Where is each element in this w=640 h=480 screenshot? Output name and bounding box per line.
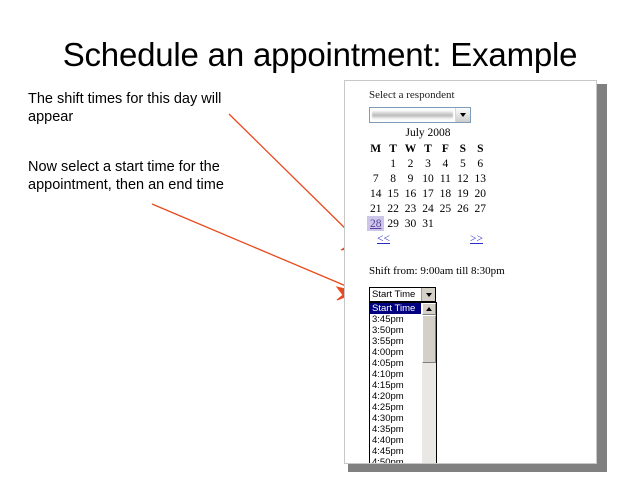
calendar-week-row: 78910111213 xyxy=(367,171,489,186)
calendar-day-label: 9 xyxy=(408,173,414,185)
chevron-down-glyph xyxy=(426,293,432,297)
calendar-day-label: 11 xyxy=(440,173,451,185)
time-option[interactable]: 3:50pm xyxy=(370,325,421,336)
start-time-listbox[interactable]: Start Time3:45pm3:50pm3:55pm4:00pm4:05pm… xyxy=(369,302,437,464)
scroll-up-button[interactable] xyxy=(422,303,436,315)
time-option[interactable]: 3:55pm xyxy=(370,336,421,347)
time-option[interactable]: 4:10pm xyxy=(370,369,421,380)
annotation-arrow-2 xyxy=(152,204,358,300)
calendar-day-label: 4 xyxy=(443,158,449,170)
calendar-day-label: 13 xyxy=(475,173,487,185)
calendar-day-label: 8 xyxy=(390,173,396,185)
calendar-day-label: 27 xyxy=(475,203,487,215)
time-option[interactable]: 3:45pm xyxy=(370,314,421,325)
calendar-day-label: 5 xyxy=(460,158,466,170)
start-time-option-list[interactable]: Start Time3:45pm3:50pm3:55pm4:00pm4:05pm… xyxy=(370,303,421,464)
panel-shadow-bottom xyxy=(348,464,607,472)
shift-hours-text: Shift from: 9:00am till 8:30pm xyxy=(369,265,505,277)
calendar-day-label: 16 xyxy=(405,188,417,200)
calendar-prev-link[interactable]: << xyxy=(377,233,390,245)
time-option[interactable]: 4:40pm xyxy=(370,435,421,446)
calendar-week-row: 14151617181920 xyxy=(367,186,489,201)
calendar-day-26[interactable]: 26 xyxy=(454,201,471,216)
time-option[interactable]: 4:00pm xyxy=(370,347,421,358)
annotation-text-select-start-time: Now select a start time for the appointm… xyxy=(28,158,248,194)
calendar-day-label: 31 xyxy=(422,218,434,230)
start-time-select-closed[interactable]: Start Time xyxy=(369,287,436,302)
calendar-day-9[interactable]: 9 xyxy=(402,171,419,186)
calendar-day-label: 17 xyxy=(422,188,434,200)
calendar-day-31[interactable]: 31 xyxy=(419,216,436,231)
calendar-weekday-tue: T xyxy=(384,141,401,156)
time-option[interactable]: 4:35pm xyxy=(370,424,421,435)
calendar-day-25[interactable]: 25 xyxy=(437,201,454,216)
calendar-day-23[interactable]: 23 xyxy=(402,201,419,216)
annotation-text-shift-times: The shift times for this day will appear xyxy=(28,90,248,126)
calendar-day-3[interactable]: 3 xyxy=(419,156,436,171)
calendar-day-28[interactable]: 28 xyxy=(367,216,384,231)
calendar-day-27[interactable]: 27 xyxy=(472,201,489,216)
calendar-day-label: 12 xyxy=(457,173,469,185)
calendar-day-30[interactable]: 30 xyxy=(402,216,419,231)
start-time-selected-value: Start Time xyxy=(370,288,421,301)
calendar-day-18[interactable]: 18 xyxy=(437,186,454,201)
time-option[interactable]: 4:30pm xyxy=(370,413,421,424)
calendar-day-2[interactable]: 2 xyxy=(402,156,419,171)
calendar-week-row: 21222324252627 xyxy=(367,201,489,216)
calendar-day-13[interactable]: 13 xyxy=(472,171,489,186)
calendar-month-label: July 2008 xyxy=(367,127,489,141)
calendar-navigation: << >> xyxy=(367,233,489,249)
calendar-day-label: 26 xyxy=(457,203,469,215)
respondent-selected-value xyxy=(372,110,453,120)
calendar-day-7[interactable]: 7 xyxy=(367,171,384,186)
calendar-day-label: 2 xyxy=(408,158,414,170)
listbox-scrollbar[interactable] xyxy=(421,303,436,464)
calendar-day-label: 15 xyxy=(387,188,399,200)
respondent-label: Select a respondent xyxy=(369,89,455,101)
calendar-day-20[interactable]: 20 xyxy=(472,186,489,201)
calendar-header-row: M T W T F S S xyxy=(367,141,489,156)
calendar-weekday-sun: S xyxy=(472,141,489,156)
calendar-day-17[interactable]: 17 xyxy=(419,186,436,201)
calendar-day-label: 7 xyxy=(373,173,379,185)
calendar-day-label: 29 xyxy=(387,218,399,230)
time-option[interactable]: 4:25pm xyxy=(370,402,421,413)
scrollbar-thumb[interactable] xyxy=(422,315,436,363)
scrollbar-track[interactable] xyxy=(422,315,436,464)
calendar-weekday-fri: F xyxy=(437,141,454,156)
calendar-weekday-sat: S xyxy=(454,141,471,156)
calendar-day-16[interactable]: 16 xyxy=(402,186,419,201)
calendar-day-label: 1 xyxy=(390,158,396,170)
calendar-day-label: 18 xyxy=(440,188,452,200)
calendar-day-label: 10 xyxy=(422,173,434,185)
calendar-day-22[interactable]: 22 xyxy=(384,201,401,216)
calendar-day-19[interactable]: 19 xyxy=(454,186,471,201)
calendar-day-label: 6 xyxy=(477,158,483,170)
calendar-day-12[interactable]: 12 xyxy=(454,171,471,186)
calendar-day-6[interactable]: 6 xyxy=(472,156,489,171)
calendar-day-label: 21 xyxy=(370,203,382,215)
calendar-day-label: 14 xyxy=(370,188,382,200)
calendar-day-empty xyxy=(472,216,489,231)
calendar-day-24[interactable]: 24 xyxy=(419,201,436,216)
calendar-weekday-wed: W xyxy=(402,141,419,156)
time-option[interactable]: 4:15pm xyxy=(370,380,421,391)
slide-canvas: Schedule an appointment: Example The shi… xyxy=(0,0,640,480)
calendar-day-21[interactable]: 21 xyxy=(367,201,384,216)
calendar-day-8[interactable]: 8 xyxy=(384,171,401,186)
page-title: Schedule an appointment: Example xyxy=(0,36,640,74)
calendar-grid: M T W T F S S 12345678910111213141516171… xyxy=(367,141,489,231)
time-option[interactable]: 4:45pm xyxy=(370,446,421,457)
calendar-day-14[interactable]: 14 xyxy=(367,186,384,201)
chevron-down-icon[interactable] xyxy=(421,288,435,301)
calendar-day-4[interactable]: 4 xyxy=(437,156,454,171)
calendar-day-label: 24 xyxy=(422,203,434,215)
calendar-day-29[interactable]: 29 xyxy=(384,216,401,231)
calendar-weekday-thu: T xyxy=(419,141,436,156)
calendar-day-empty xyxy=(367,156,384,171)
calendar-week-row: 123456 xyxy=(367,156,489,171)
calendar-day-1[interactable]: 1 xyxy=(384,156,401,171)
web-content-panel: Select a respondent July 2008 M T W T F … xyxy=(344,80,597,464)
calendar-day-label: 23 xyxy=(405,203,417,215)
calendar-day-label: 3 xyxy=(425,158,431,170)
panel-shadow-right xyxy=(597,84,607,470)
chevron-down-glyph xyxy=(460,113,466,117)
time-option[interactable]: 4:05pm xyxy=(370,358,421,369)
calendar-day-15[interactable]: 15 xyxy=(384,186,401,201)
calendar-day-label: 28 xyxy=(370,218,382,230)
calendar-weekday-mon: M xyxy=(367,141,384,156)
calendar-day-10[interactable]: 10 xyxy=(419,171,436,186)
calendar-widget: July 2008 M T W T F S S 1234567891011121… xyxy=(367,127,489,249)
calendar-day-empty xyxy=(454,216,471,231)
calendar-day-11[interactable]: 11 xyxy=(437,171,454,186)
chevron-up-icon xyxy=(426,307,432,311)
calendar-day-label: 25 xyxy=(440,203,452,215)
calendar-day-label: 30 xyxy=(405,218,417,230)
calendar-day-label: 20 xyxy=(475,188,487,200)
time-option[interactable]: 4:50pm xyxy=(370,457,421,464)
calendar-day-label: 19 xyxy=(457,188,469,200)
time-option[interactable]: 4:20pm xyxy=(370,391,421,402)
time-option[interactable]: Start Time xyxy=(370,303,421,314)
calendar-next-link[interactable]: >> xyxy=(470,233,483,245)
calendar-day-5[interactable]: 5 xyxy=(454,156,471,171)
chevron-down-icon[interactable] xyxy=(455,108,470,122)
respondent-select[interactable] xyxy=(369,107,471,123)
calendar-week-row: 28293031 xyxy=(367,216,489,231)
calendar-day-empty xyxy=(437,216,454,231)
calendar-day-label: 22 xyxy=(387,203,399,215)
